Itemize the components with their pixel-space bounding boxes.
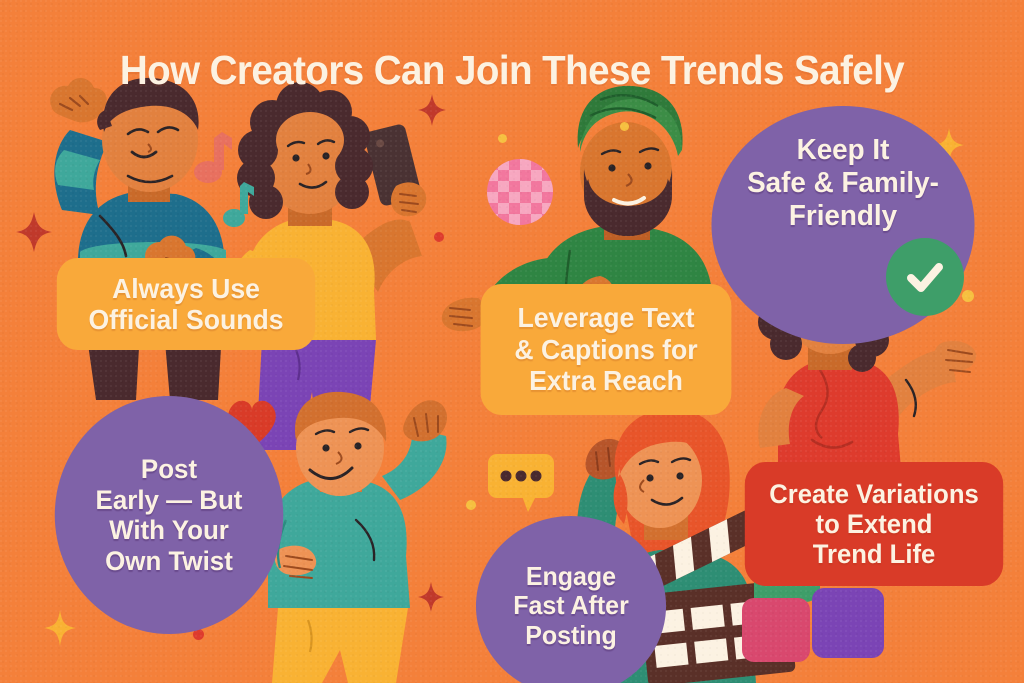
tip-line-1: Keep It [797,134,890,166]
tip-line-2: Fast After [513,590,629,620]
tip-line-3: Trend Life [813,539,936,569]
tip-bubble-engage-fast[interactable]: Engage Fast After Posting [476,516,666,683]
tip-line-4: Own Twist [105,546,233,576]
music-note-coral-icon [192,128,240,186]
tip-line-2: & Captions for [514,334,697,365]
tip-line-3: Extra Reach [529,365,683,396]
swatch-purple [812,588,884,658]
sparkle-dark-red-icon-2 [418,94,446,126]
tip-line-1: Always Use [112,273,260,304]
dot-red [434,232,444,242]
sparkle-dark-red-icon-3 [418,582,444,612]
tip-card-official-sounds[interactable]: Always Use Official Sounds [57,258,315,350]
dot-yellow [498,134,507,143]
tip-line-2: Safe & Family- [747,167,939,199]
dot-yellow-2 [620,122,629,131]
comment-speech-bubble-icon [486,452,558,514]
dot-yellow-5 [466,500,476,510]
swatch-pink [742,598,810,662]
pink-checkered-circle [487,159,553,225]
tip-line-2: to Extend [816,509,933,539]
sparkle-dark-red-icon [16,212,52,252]
check-icon [903,255,947,299]
tip-card-text-captions[interactable]: Leverage Text & Captions for Extra Reach [481,284,732,415]
tip-bubble-post-early[interactable]: Post Early — But With Your Own Twist [55,396,283,634]
music-note-teal-icon [222,180,260,232]
page-title: How Creators Can Join These Trends Safel… [31,49,994,92]
tip-line-3: With Your [109,515,229,545]
tip-line-1: Engage [526,561,616,591]
green-check-badge [886,238,964,316]
tip-line-3: Posting [525,620,617,650]
tip-line-2: Official Sounds [88,304,283,335]
dot-yellow-3 [962,290,974,302]
tip-line-2: Early — But [96,485,243,515]
tip-line-1: Post [141,454,197,484]
tip-card-create-variations[interactable]: Create Variations to Extend Trend Life [745,462,1003,586]
tip-line-1: Leverage Text [518,302,695,333]
tip-line-1: Create Variations [769,479,979,509]
tip-line-3: Friendly [789,200,897,232]
sparkle-yellow-icon-2 [44,610,76,646]
infographic-canvas: How Creators Can Join These Trends Safel… [0,0,1024,683]
